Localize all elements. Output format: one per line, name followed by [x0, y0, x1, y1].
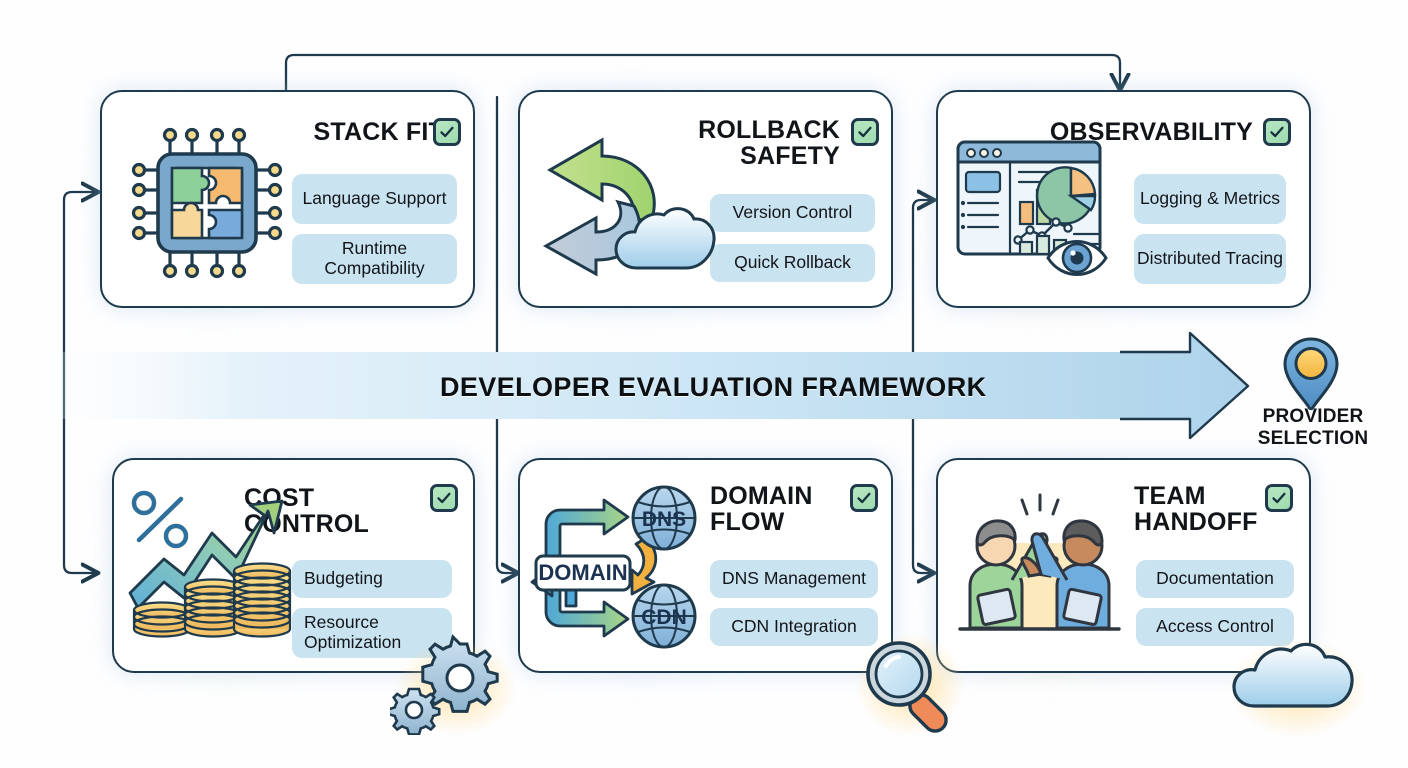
check-icon — [857, 124, 873, 140]
domain-flow-icon-label-domain: DOMAIN — [538, 560, 627, 585]
gears-icon — [390, 630, 515, 735]
location-pin-icon — [1268, 334, 1354, 414]
domain-flow-checkbox[interactable] — [850, 484, 878, 512]
cpu-puzzle-icon — [122, 118, 292, 288]
provider-label-line2: SELECTION — [1240, 428, 1386, 450]
observability-tag-1[interactable]: Distributed Tracing — [1134, 234, 1286, 284]
team-handoff-title: TEAM HANDOFF — [1134, 484, 1274, 535]
team-handoff-tag-0[interactable]: Documentation — [1136, 560, 1294, 598]
wire-middle-spine — [497, 305, 518, 573]
observability-tag-0[interactable]: Logging & Metrics — [1134, 174, 1286, 224]
wire-left-branch-top — [64, 192, 98, 200]
rollback-safety-tag-1[interactable]: Quick Rollback — [710, 244, 875, 282]
rollback-arrows-cloud-icon — [534, 126, 719, 286]
team-handoff-title-line1: HANDOFF — [1134, 510, 1274, 536]
wire-right-branch-top — [913, 200, 934, 360]
observability-checkbox[interactable] — [1263, 118, 1291, 146]
domain-dns-cdn-icon: DOMAIN DNS CDN — [528, 478, 708, 653]
check-icon — [856, 490, 872, 506]
check-icon — [436, 490, 452, 506]
cost-control-checkbox[interactable] — [430, 484, 458, 512]
cloud-icon — [1228, 638, 1368, 738]
stack-fit-checkbox[interactable] — [433, 118, 461, 146]
domain-flow-icon-label-cdn: CDN — [641, 606, 687, 629]
stack-fit-tag-1[interactable]: Runtime Compatibility — [292, 234, 457, 284]
infographic-canvas: DEVELOPER EVALUATION FRAMEWORK PROVIDER … — [0, 0, 1408, 768]
team-handoff-checkbox[interactable] — [1265, 484, 1293, 512]
check-icon — [1269, 124, 1285, 140]
domain-flow-tag-0[interactable]: DNS Management — [710, 560, 878, 598]
cost-control-tag-0[interactable]: Budgeting — [292, 560, 452, 598]
domain-flow-icon-label-dns: DNS — [642, 508, 686, 531]
stack-fit-tag-0[interactable]: Language Support — [292, 174, 457, 224]
domain-flow-tag-1[interactable]: CDN Integration — [710, 608, 878, 646]
check-icon — [1271, 490, 1287, 506]
check-icon — [439, 124, 455, 140]
rollback-safety-checkbox[interactable] — [851, 118, 879, 146]
domain-flow-title-line1: FLOW — [710, 510, 880, 536]
rollback-safety-tag-0[interactable]: Version Control — [710, 194, 875, 232]
framework-banner-title: DEVELOPER EVALUATION FRAMEWORK — [440, 372, 987, 403]
coins-growth-chart-icon — [126, 483, 298, 643]
dashboard-eye-icon — [952, 118, 1120, 288]
high-five-team-icon — [952, 488, 1127, 640]
team-handoff-title-line0: TEAM — [1134, 484, 1274, 510]
magnifying-glass-icon — [855, 630, 965, 740]
